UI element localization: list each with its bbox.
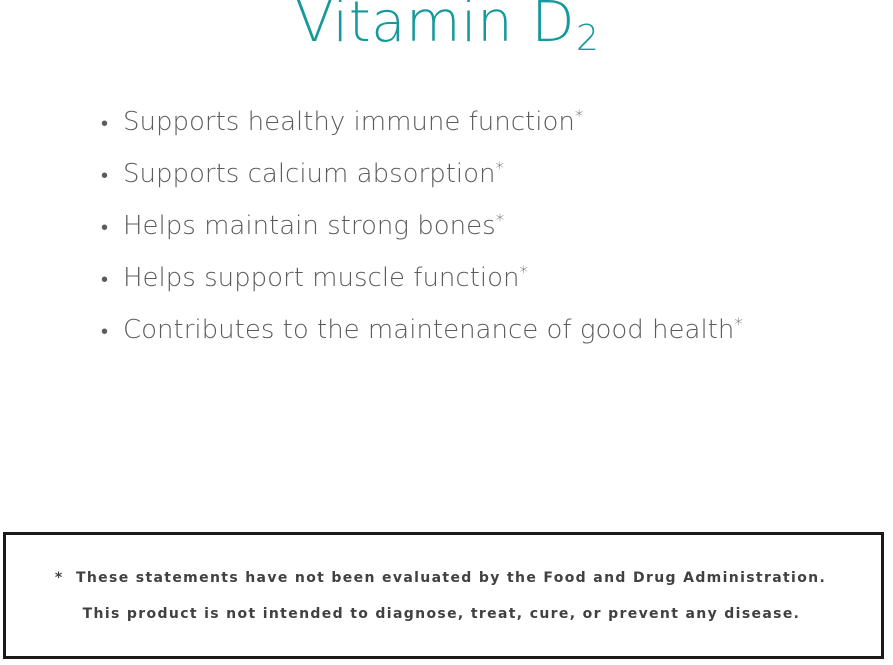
product-title-main: Vitamin D xyxy=(295,0,575,55)
list-item: • Supports healthy immune function* xyxy=(101,96,743,148)
bullet-icon: • xyxy=(101,253,123,305)
benefit-label: Contributes to the maintenance of good h… xyxy=(123,315,734,345)
benefit-text: Supports calcium absorption* xyxy=(123,148,504,200)
benefit-label: Helps support muscle function xyxy=(123,263,520,293)
bullet-icon: • xyxy=(101,305,123,357)
product-title-subscript: 2 xyxy=(576,18,599,59)
list-item: • Helps support muscle function* xyxy=(101,252,743,304)
disclaimer-line-1-text: These statements have not been evaluated… xyxy=(76,570,826,586)
footnote-marker-icon: * xyxy=(496,211,505,231)
bullet-icon: • xyxy=(101,149,123,201)
benefit-text: Supports healthy immune function* xyxy=(123,96,583,148)
product-title-text: Vitamin D2 xyxy=(295,0,598,58)
footnote-marker-icon: * xyxy=(496,159,505,179)
benefit-text: Contributes to the maintenance of good h… xyxy=(123,304,743,356)
footnote-marker-icon: * xyxy=(575,107,584,127)
disclaimer-content: * These statements have not been evaluat… xyxy=(6,535,881,656)
benefit-label: Supports healthy immune function xyxy=(123,107,575,137)
list-item: • Helps maintain strong bones* xyxy=(101,200,743,252)
page-title: Vitamin D2 xyxy=(0,0,893,58)
benefit-text: Helps maintain strong bones* xyxy=(123,200,504,252)
disclaimer-line-2: This product is not intended to diagnose… xyxy=(83,606,805,622)
supplement-label-panel: Vitamin D2 • Supports healthy immune fun… xyxy=(0,0,893,665)
disclaimer-line-1: * These statements have not been evaluat… xyxy=(55,570,832,586)
list-item: • Contributes to the maintenance of good… xyxy=(101,304,743,356)
disclaimer-asterisk-icon: * xyxy=(55,570,64,586)
benefit-label: Supports calcium absorption xyxy=(123,159,496,189)
list-item: • Supports calcium absorption* xyxy=(101,148,743,200)
bullet-icon: • xyxy=(101,97,123,149)
benefits-list: • Supports healthy immune function* • Su… xyxy=(101,96,743,356)
bullet-icon: • xyxy=(101,201,123,253)
benefit-label: Helps maintain strong bones xyxy=(123,211,496,241)
footnote-marker-icon: * xyxy=(734,315,743,335)
benefit-text: Helps support muscle function* xyxy=(123,252,528,304)
footnote-marker-icon: * xyxy=(520,263,529,283)
disclaimer-box: * These statements have not been evaluat… xyxy=(3,532,884,659)
